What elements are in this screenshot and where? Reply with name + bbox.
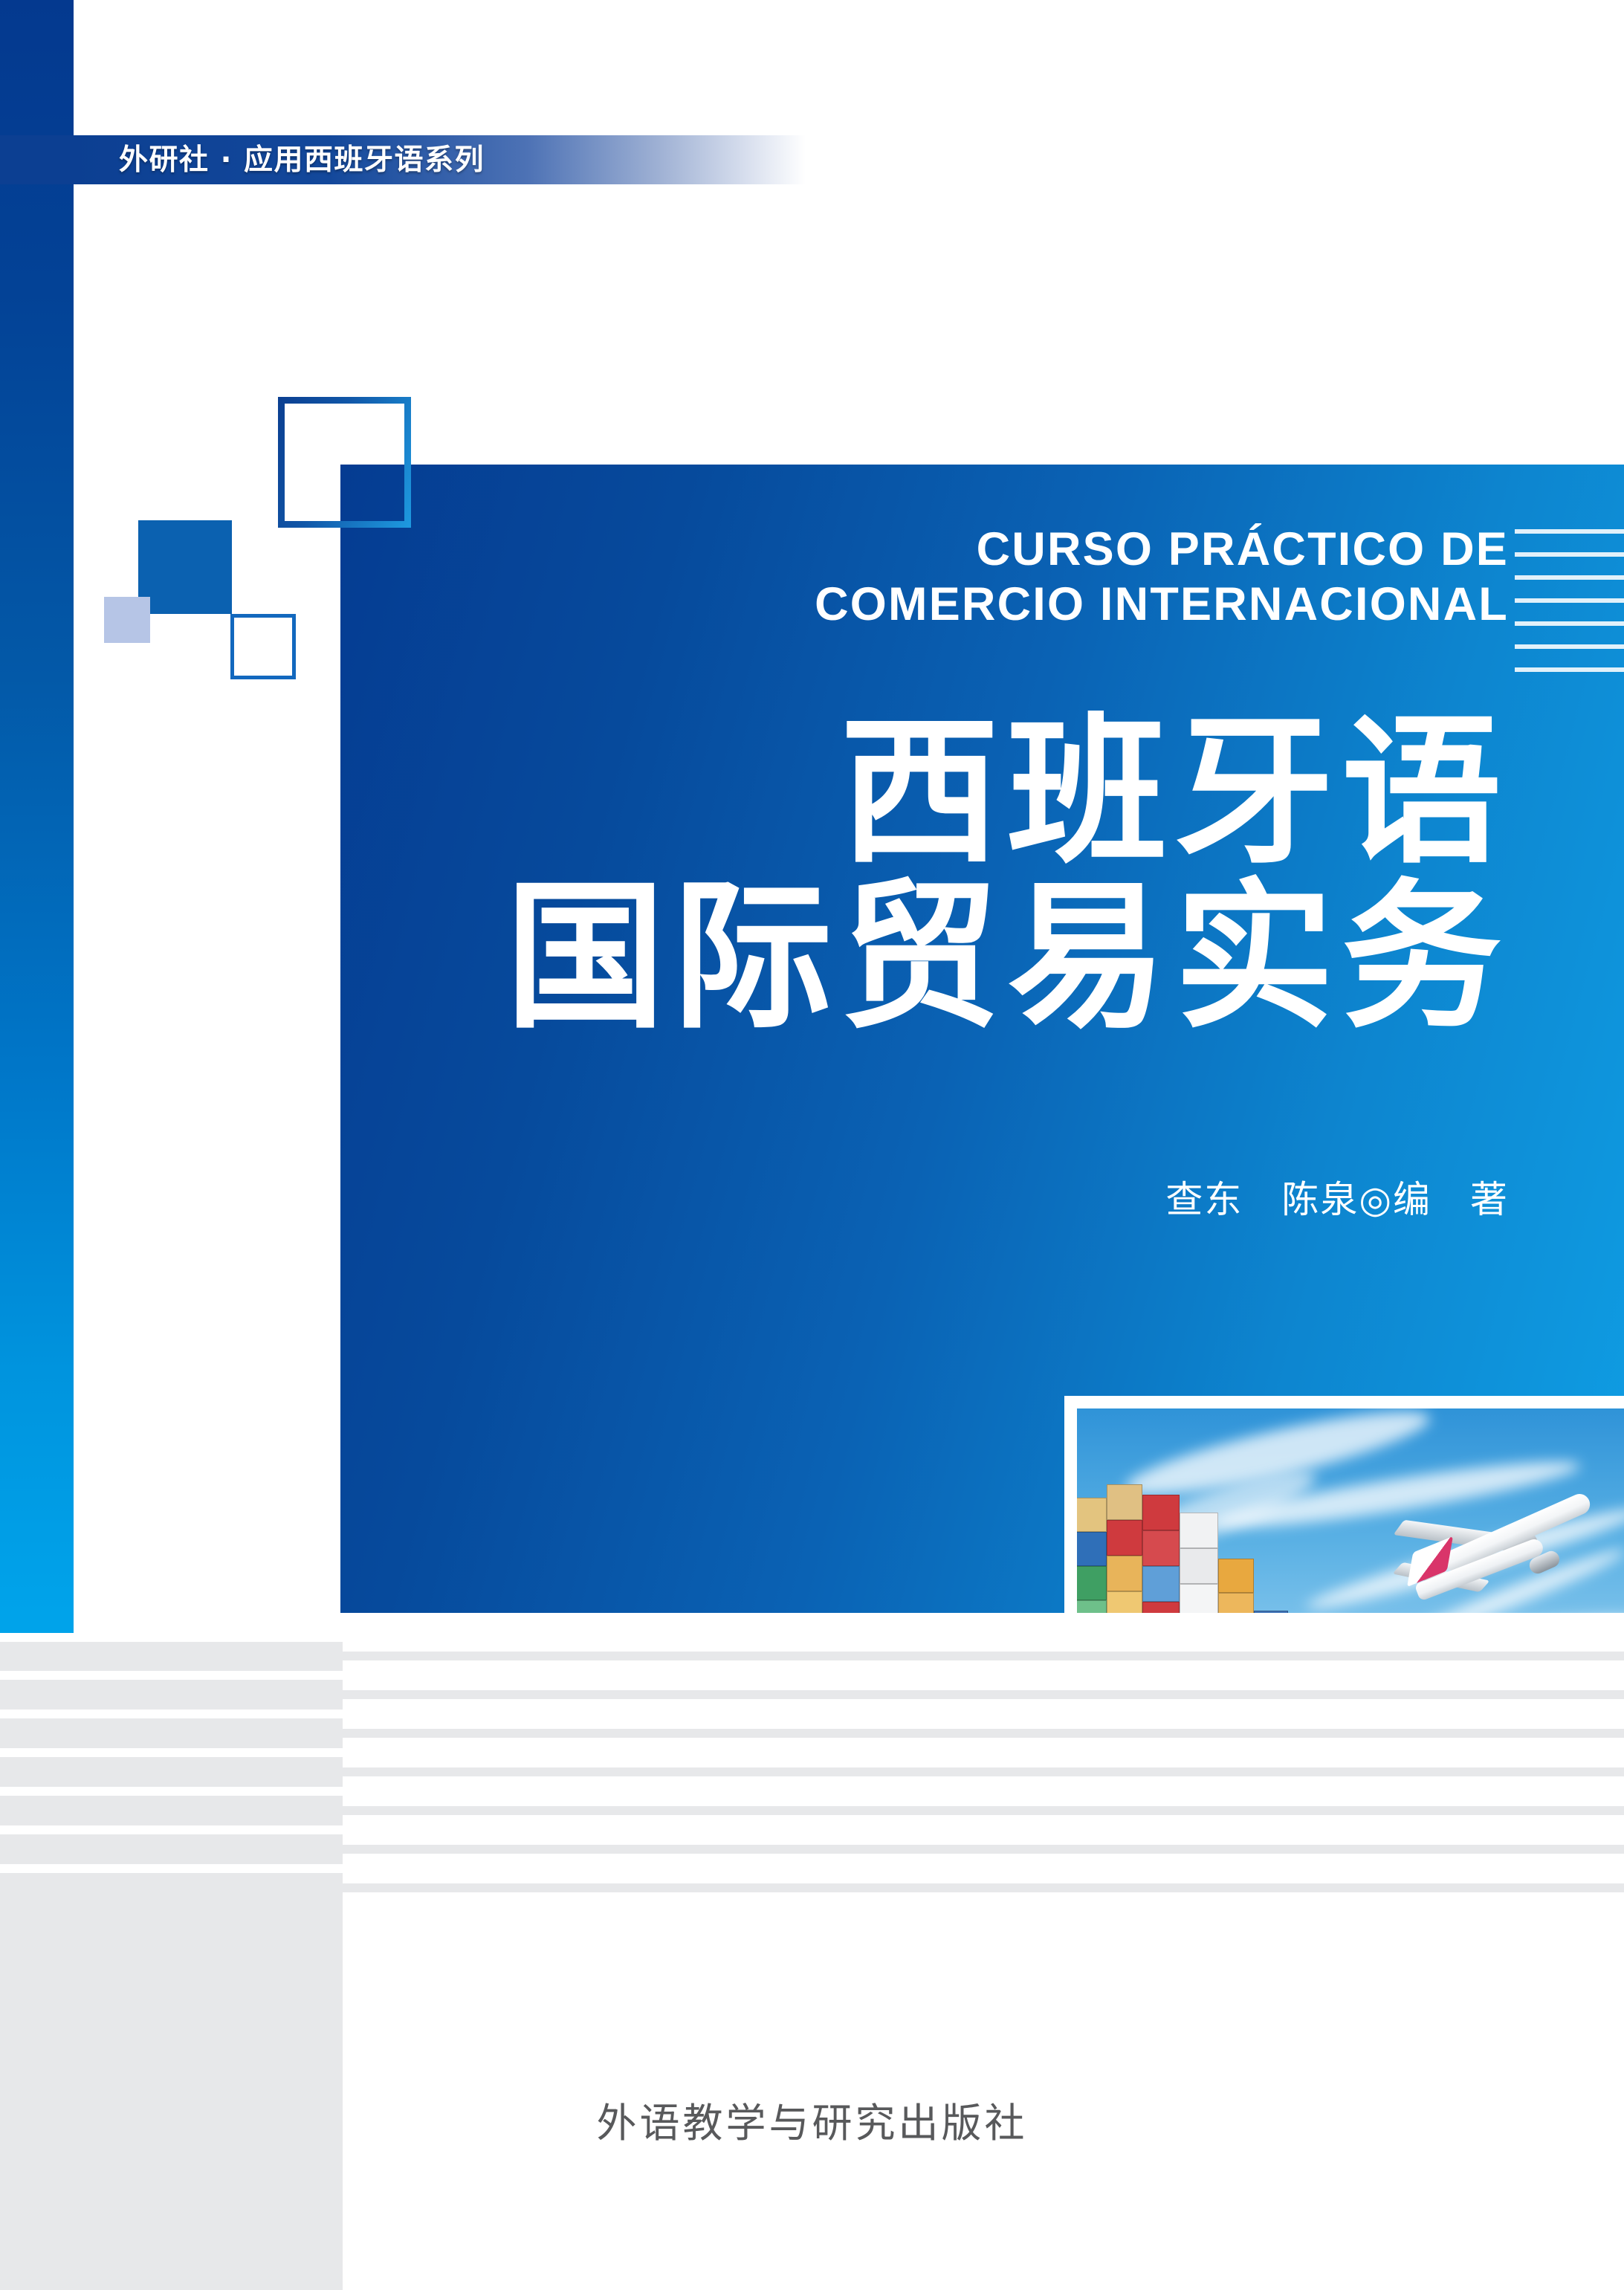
chinese-title: 西班牙语 国际贸易实务 bbox=[245, 710, 1509, 1040]
decor-square-outline-small bbox=[230, 614, 296, 679]
chinese-title-line-2: 国际贸易实务 bbox=[245, 875, 1509, 1040]
footer-stripes bbox=[0, 1613, 1624, 2290]
decor-square-filled-medium bbox=[138, 520, 232, 614]
chinese-title-line-1: 西班牙语 bbox=[245, 710, 1509, 875]
author-line: 查东 陈泉◎编 著 bbox=[669, 1170, 1509, 1223]
series-label: 外研社 · 应用西班牙语系列 bbox=[119, 140, 485, 181]
decor-square-outline-large bbox=[278, 397, 411, 528]
spanish-title: CURSO PRÁCTICO DE COMERCIO INTERNACIONAL bbox=[327, 522, 1509, 632]
decor-square-filled-lilac bbox=[104, 597, 150, 643]
footer-light-blue-tab bbox=[0, 1613, 74, 1633]
series-banner-stub bbox=[0, 135, 74, 184]
left-gradient-spine bbox=[0, 0, 74, 1613]
decor-rule-lines bbox=[1515, 529, 1624, 672]
book-cover: 外研社 · 应用西班牙语系列 CURSO PRÁCTICO DE COMERCI… bbox=[0, 0, 1624, 2290]
airplane-icon bbox=[1397, 1483, 1597, 1617]
spanish-title-line-2: COMERCIO INTERNACIONAL bbox=[327, 577, 1509, 632]
spanish-title-line-1: CURSO PRÁCTICO DE bbox=[327, 522, 1509, 577]
publisher-name: 外语教学与研究出版社 bbox=[0, 2090, 1624, 2149]
